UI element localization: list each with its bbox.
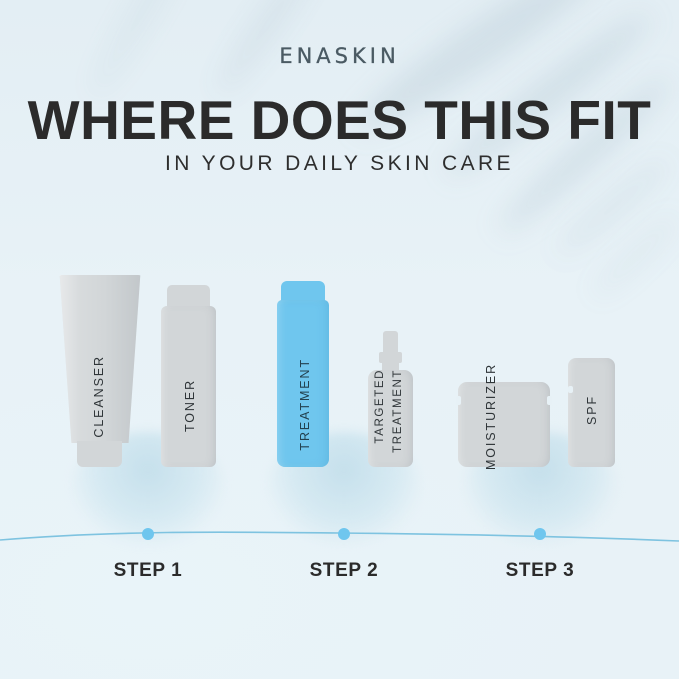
product-label-treatment: TREATMENT: [298, 358, 312, 451]
step-label-1: STEP 1: [78, 560, 218, 582]
product-label-spf: SPF: [585, 395, 599, 425]
product-moisturizer-lid-notch-right: [547, 396, 552, 405]
step-label-2: STEP 2: [274, 560, 414, 582]
product-label-moisturizer: MOISTURIZER: [484, 363, 498, 470]
skincare-routine-infographic: ENASKIN WHERE DOES THIS FIT IN YOUR DAIL…: [0, 0, 679, 679]
product-label-targeted-treatment-line2: TREATMENT: [392, 369, 404, 453]
timeline-dot-step-2: [338, 528, 350, 540]
product-label-cleanser: CLEANSER: [92, 355, 106, 438]
product-label-targeted-treatment-line1: TARGETED: [374, 369, 386, 444]
timeline-dot-step-3: [534, 528, 546, 540]
product-moisturizer-lid-notch-left: [456, 396, 461, 405]
brand-logo: ENASKIN: [0, 44, 679, 68]
step-label-3: STEP 3: [470, 560, 610, 582]
product-cleanser-cap: [77, 441, 122, 467]
product-label-toner: TONER: [183, 379, 197, 432]
product-moisturizer: [458, 382, 550, 467]
page-subtitle: IN YOUR DAILY SKIN CARE: [0, 152, 679, 176]
page-title: WHERE DOES THIS FIT: [0, 92, 679, 150]
timeline-dot-step-1: [142, 528, 154, 540]
product-spf-shoulder: [568, 386, 573, 393]
